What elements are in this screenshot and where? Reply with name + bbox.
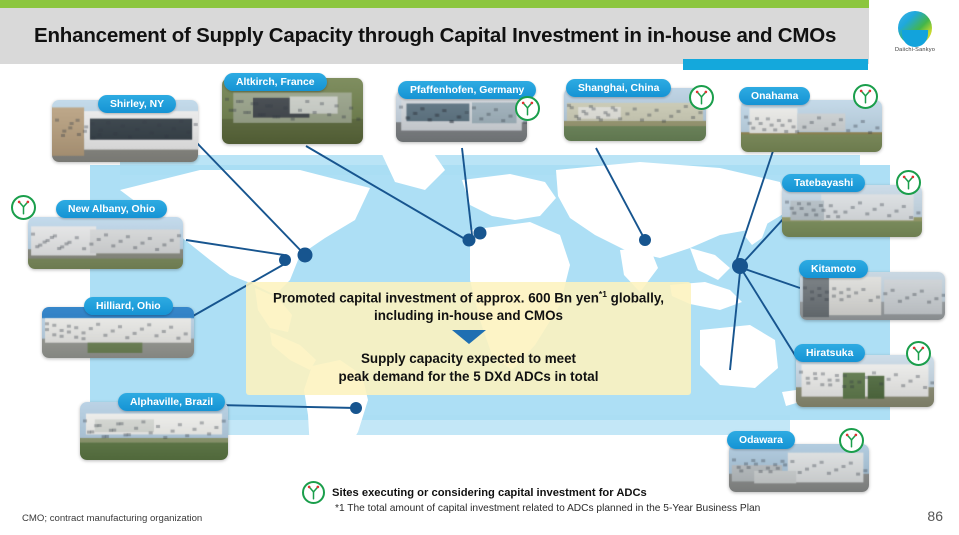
site-card-kitamoto[interactable]: Kitamoto xyxy=(800,272,945,320)
site-card-altkirch[interactable]: Altkirch, France xyxy=(222,78,363,144)
adc-antibody-icon xyxy=(906,341,931,366)
antibody-glyph xyxy=(306,485,321,500)
antibody-glyph xyxy=(694,90,709,105)
site-label-hiratsuka: Hiratsuka xyxy=(794,344,865,362)
page-title: Enhancement of Supply Capacity through C… xyxy=(34,8,854,64)
callout-footnote-marker: *1 xyxy=(599,289,607,299)
antibody-glyph xyxy=(901,175,916,190)
site-label-shanghai: Shanghai, China xyxy=(566,79,671,97)
site-label-shirley: Shirley, NY xyxy=(98,95,176,113)
site-label-pfaffenhofen: Pfaffenhofen, Germany xyxy=(398,81,536,99)
tower-building-photo xyxy=(800,272,945,320)
site-card-new-albany[interactable]: New Albany, Ohio xyxy=(28,217,183,269)
site-label-hilliard: Hilliard, Ohio xyxy=(84,297,173,315)
antibody-glyph xyxy=(16,200,31,215)
site-card-hiratsuka[interactable]: Hiratsuka xyxy=(796,355,934,407)
arrow-down-icon xyxy=(452,330,486,344)
site-label-altkirch: Altkirch, France xyxy=(224,73,327,91)
callout-line3: Supply capacity expected to meet xyxy=(361,351,576,366)
callout-line4: peak demand for the 5 DXd ADCs in total xyxy=(339,369,599,384)
antibody-glyph xyxy=(520,101,535,116)
site-card-shanghai[interactable]: Shanghai, China xyxy=(564,88,706,141)
site-card-tatebayashi[interactable]: Tatebayashi xyxy=(782,185,922,237)
site-label-odawara: Odawara xyxy=(727,431,795,449)
site-card-hilliard[interactable]: Hilliard, Ohio xyxy=(42,307,194,358)
footnote-text: *1 The total amount of capital investmen… xyxy=(335,503,760,514)
site-label-new-albany: New Albany, Ohio xyxy=(56,200,167,218)
adc-antibody-icon xyxy=(11,195,36,220)
adc-antibody-icon xyxy=(302,481,325,504)
legend-label: Sites executing or considering capital i… xyxy=(332,487,647,499)
antibody-glyph xyxy=(844,433,859,448)
adc-antibody-icon xyxy=(839,428,864,453)
site-card-shirley[interactable]: Shirley, NY xyxy=(52,100,198,162)
page-number: 86 xyxy=(927,508,943,524)
adc-antibody-icon xyxy=(515,96,540,121)
callout-line1-post: globally, xyxy=(607,290,664,305)
adc-antibody-icon xyxy=(853,84,878,109)
callout-secondary-text: Supply capacity expected to meet peak de… xyxy=(339,350,599,385)
canopy-building-photo xyxy=(28,217,183,269)
slide: Enhancement of Supply Capacity through C… xyxy=(0,0,959,535)
site-card-pfaffenhofen[interactable]: Pfaffenhofen, Germany xyxy=(396,90,527,142)
company-logo: Daiichi-Sankyo xyxy=(884,4,946,60)
site-label-alphaville: Alphaville, Brazil xyxy=(118,393,225,411)
callout-line2: including in-house and CMOs xyxy=(374,308,563,323)
adc-antibody-icon xyxy=(896,170,921,195)
site-label-tatebayashi: Tatebayashi xyxy=(782,174,865,192)
site-card-odawara[interactable]: Odawara xyxy=(729,444,869,492)
cmo-definition-note: CMO; contract manufacturing organization xyxy=(22,513,202,524)
legend: Sites executing or considering capital i… xyxy=(302,481,647,504)
callout-line1-pre: Promoted capital investment of approx. 6… xyxy=(273,290,599,305)
site-card-alphaville[interactable]: Alphaville, Brazil xyxy=(80,402,228,460)
daiichi-sankyo-logo-icon xyxy=(898,11,932,45)
site-card-onahama[interactable]: Onahama xyxy=(741,100,882,152)
adc-antibody-icon xyxy=(689,85,714,110)
top-green-accent-bar xyxy=(0,0,869,8)
logo-label: Daiichi-Sankyo xyxy=(895,47,935,53)
antibody-glyph xyxy=(858,89,873,104)
site-label-onahama: Onahama xyxy=(739,87,810,105)
antibody-glyph xyxy=(911,346,926,361)
summary-callout: Promoted capital investment of approx. 6… xyxy=(246,282,691,395)
site-label-kitamoto: Kitamoto xyxy=(799,260,868,278)
callout-primary-text: Promoted capital investment of approx. 6… xyxy=(273,289,664,325)
header-blue-accent-bar xyxy=(683,59,868,70)
